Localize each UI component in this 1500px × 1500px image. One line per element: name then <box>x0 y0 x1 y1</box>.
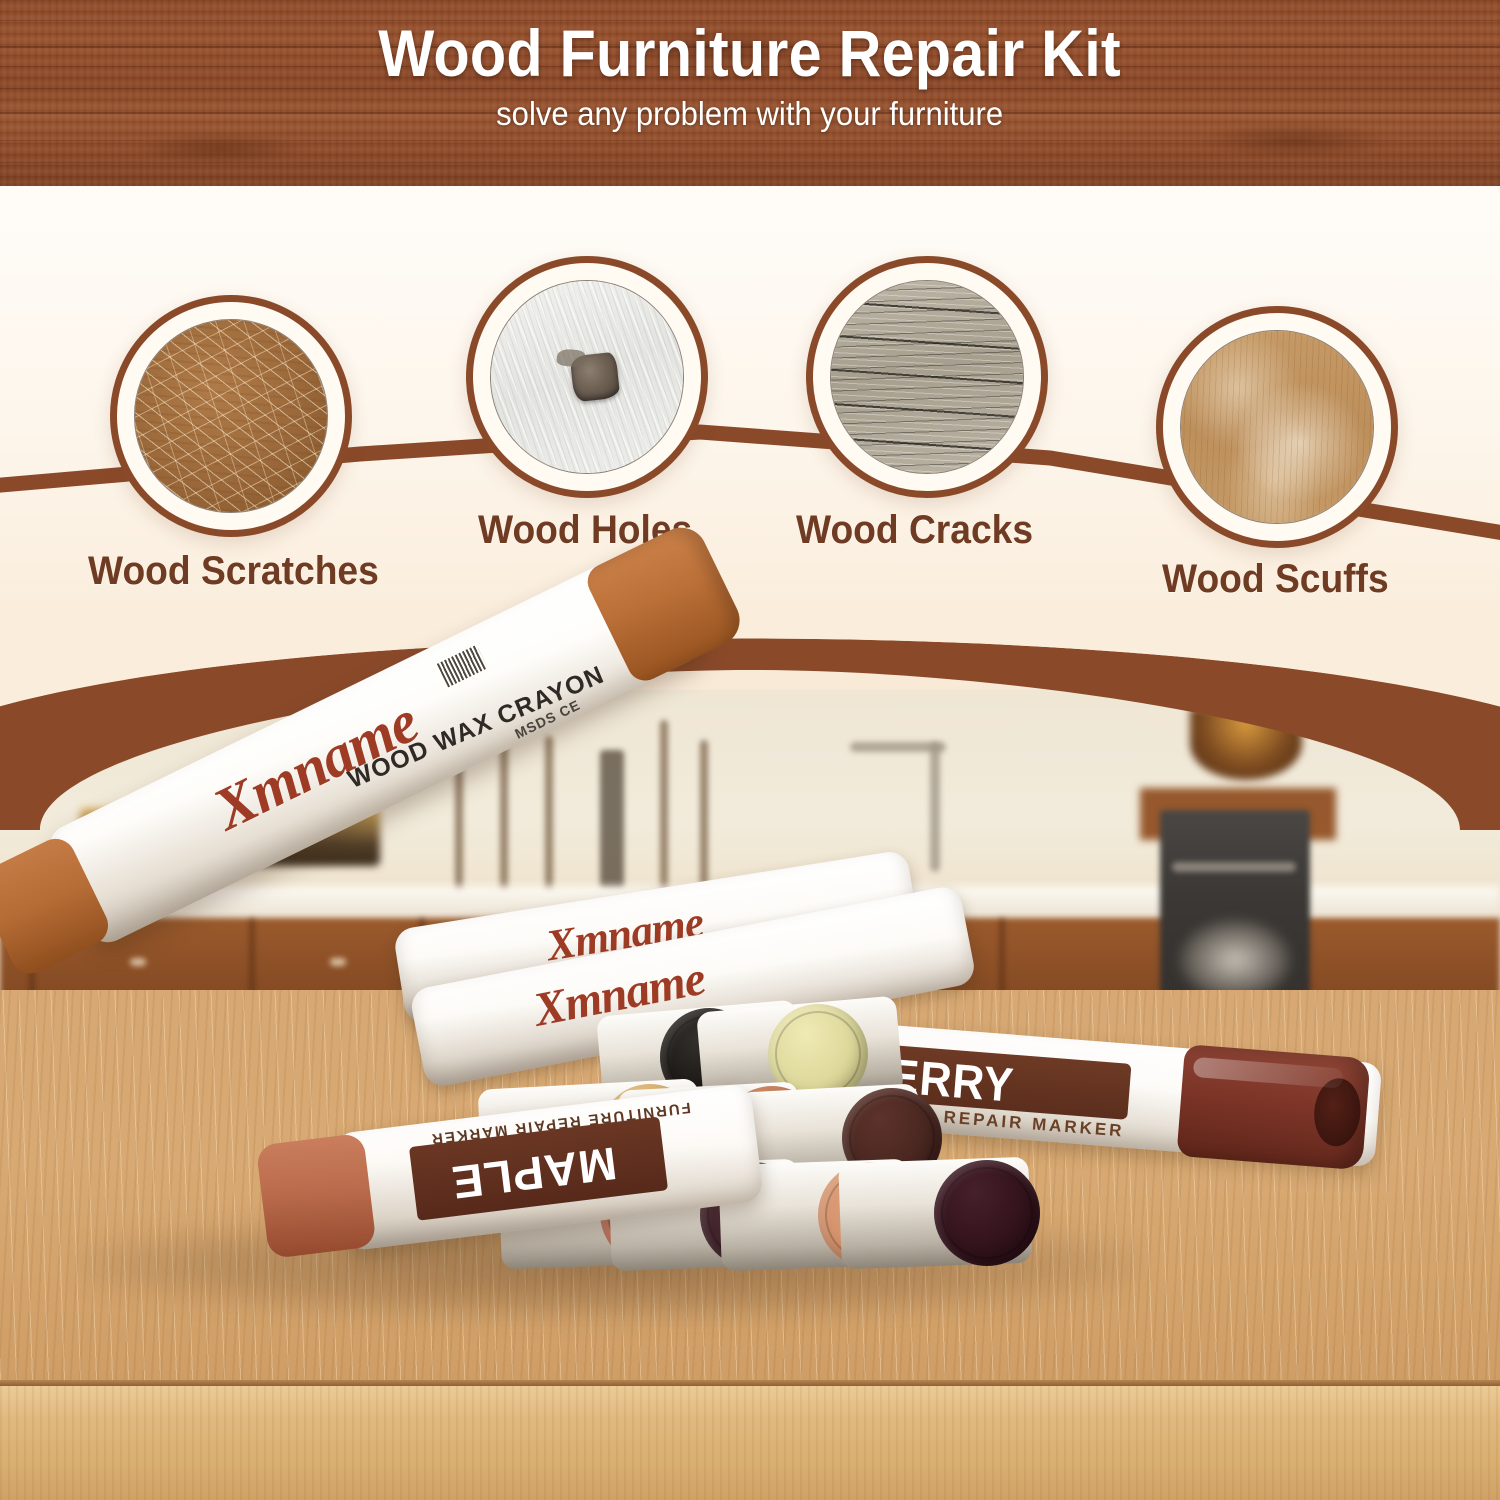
hero-marker-tip <box>0 832 115 980</box>
problem-image-wood-cracks <box>830 280 1024 474</box>
problem-image-wood-holes <box>490 280 684 474</box>
problem-circle-wood-cracks <box>806 256 1048 498</box>
wood-chip-icon <box>569 352 620 403</box>
problem-circle-wood-holes <box>466 256 708 498</box>
problem-label-wood-cracks: Wood Cracks <box>796 508 1033 553</box>
problem-circle-wood-scuffs <box>1156 306 1398 548</box>
problem-image-wood-scratches <box>134 319 328 513</box>
problem-label-wood-scratches: Wood Scratches <box>88 549 379 594</box>
product-infographic: Wood Furniture Repair Kit solve any prob… <box>0 0 1500 1500</box>
header-banner: Wood Furniture Repair Kit solve any prob… <box>0 0 1500 186</box>
problem-circle-wood-scratches <box>110 295 352 537</box>
product-group: Xmname Xmname CHERRY FURNITURE REPAIR MA… <box>0 690 1500 1500</box>
problem-image-wood-scuffs <box>1180 330 1374 524</box>
crayon-cap-very-dark-plum <box>934 1160 1040 1266</box>
page-title: Wood Furniture Repair Kit <box>379 18 1122 89</box>
problem-label-wood-scuffs: Wood Scuffs <box>1162 557 1389 602</box>
maple-cap <box>256 1133 377 1259</box>
barcode-icon <box>437 645 488 688</box>
page-subtitle: solve any problem with your furniture <box>497 95 1004 133</box>
